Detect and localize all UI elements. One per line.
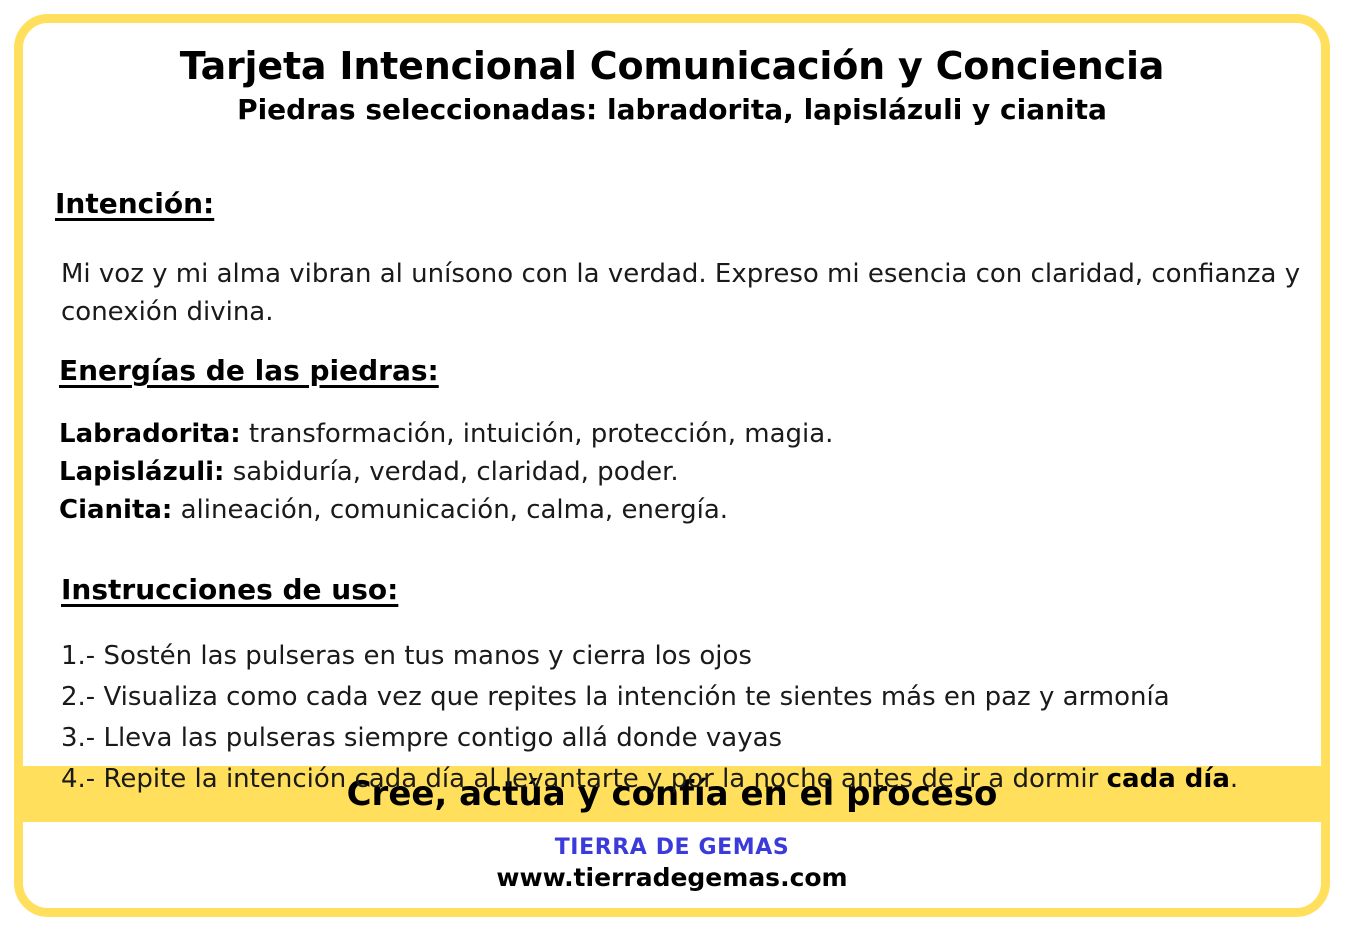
instruction-step-text: 2.- Visualiza como cada vez que repites … [61,682,1170,712]
instruction-step: 3.- Lleva las pulseras siempre contigo a… [61,718,1311,759]
stone-properties: alineación, comunicación, calma, energía… [172,495,728,525]
brand-name: TIERRA DE GEMAS [555,836,790,860]
stone-item: Lapislázuli: sabiduría, verdad, claridad… [59,453,1259,491]
instruction-step-text: 1.- Sostén las pulseras en tus manos y c… [61,641,752,671]
section-heading-instrucciones: Instrucciones de uso: [61,573,398,607]
instruction-step: 4.- Repite la intención cada día al leva… [61,759,1311,800]
stone-item: Labradorita: transformación, intuición, … [59,415,1259,453]
stone-name: Cianita: [59,495,172,525]
instructions-list: 1.- Sostén las pulseras en tus manos y c… [61,636,1311,800]
card-body: Tarjeta Intencional Comunicación y Conci… [23,23,1321,766]
instruction-step: 1.- Sostén las pulseras en tus manos y c… [61,636,1311,677]
instruction-step-text: 4.- Repite la intención cada día al leva… [61,764,1107,794]
section-heading-energias: Energías de las piedras: [59,354,439,388]
stone-properties: sabiduría, verdad, claridad, poder. [224,457,678,487]
stone-name: Lapislázuli: [59,457,224,487]
intention-card: Tarjeta Intencional Comunicación y Conci… [14,14,1330,917]
stone-name: Labradorita: [59,419,241,449]
stone-properties: transformación, intuición, protección, m… [241,419,834,449]
brand-url: www.tierradegemas.com [496,862,847,893]
instruction-step-text: 3.- Lleva las pulseras siempre contigo a… [61,723,782,753]
intention-paragraph: Mi voz y mi alma vibran al unísono con l… [61,255,1309,331]
instruction-step: 2.- Visualiza como cada vez que repites … [61,677,1311,718]
section-heading-intencion: Intención: [55,187,214,221]
stone-item: Cianita: alineación, comunicación, calma… [59,491,1259,529]
instruction-step-tail: . [1230,764,1238,794]
stones-list: Labradorita: transformación, intuición, … [59,415,1259,530]
card-footer: TIERRA DE GEMAS www.tierradegemas.com [23,822,1321,908]
page-subtitle: Piedras seleccionadas: labradorita, lapi… [23,89,1321,127]
instruction-step-emphasis: cada día [1107,764,1230,794]
page-title: Tarjeta Intencional Comunicación y Conci… [23,23,1321,89]
